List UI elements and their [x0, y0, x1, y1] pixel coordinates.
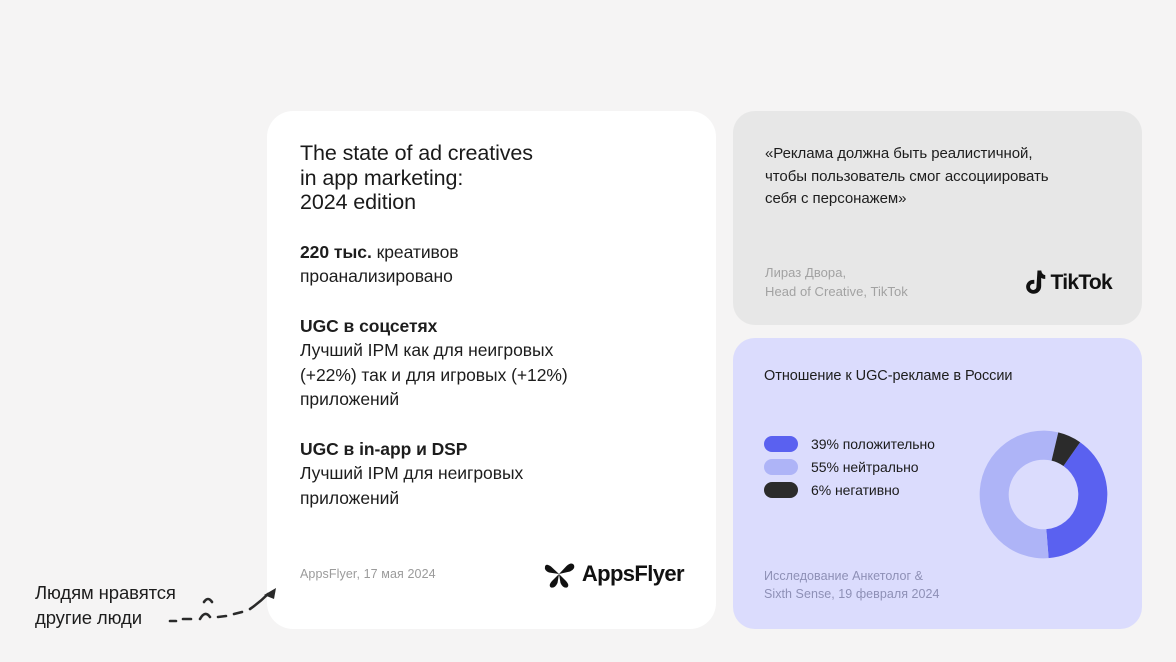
stat-block-creatives: 220 тыс. креативов проанализировано [300, 240, 688, 289]
section-ugc-social: UGC в соцсетях Лучший IPM как для неигро… [300, 314, 688, 412]
legend-label-neutral: 55% нейтрально [811, 459, 919, 475]
legend-swatch-neutral [764, 459, 798, 475]
quote-attribution: Лираз Двора, Head of Creative, TikTok [765, 264, 908, 301]
section-line: Лучший IPM как для неигровых [300, 338, 688, 363]
section-line: Лучший IPM для неигровых [300, 461, 688, 486]
quote-footer: Лираз Двора, Head of Creative, TikTok Ti… [765, 264, 1112, 301]
main-card-content: The state of ad creatives in app marketi… [300, 141, 688, 510]
legend-swatch-negative [764, 482, 798, 498]
legend-label-positive: 39% положительно [811, 436, 935, 452]
appsflyer-mark-icon [544, 559, 576, 589]
section-line: приложений [300, 486, 688, 511]
legend-item: 6% негативно [764, 482, 935, 498]
stat-line-1: 220 тыс. креативов [300, 240, 688, 265]
ugc-sentiment-chart-card: Отношение к UGC-рекламе в России 39% пол… [733, 338, 1142, 629]
section-title-ugc-social: UGC в соцсетях [300, 314, 688, 339]
slide-canvas: The state of ad creatives in app marketi… [0, 0, 1176, 662]
section-line: (+22%) так и для игровых (+12%) [300, 363, 688, 388]
legend-item: 39% положительно [764, 436, 935, 452]
section-ugc-inapp-dsp: UGC в in-app и DSP Лучший IPM для неигро… [300, 437, 688, 511]
tiktok-note-icon [1023, 270, 1046, 296]
page-title: The state of ad creatives in app marketi… [300, 141, 688, 215]
donut-slice-нейтрально [980, 431, 1059, 559]
chart-legend: 39% положительно 55% нейтрально 6% негат… [764, 436, 935, 498]
tiktok-logo: TikTok [1023, 270, 1112, 296]
donut-chart [977, 428, 1110, 561]
stat-line-2: проанализировано [300, 264, 688, 289]
section-line: приложений [300, 387, 688, 412]
chart-title: Отношение к UGC-рекламе в России [764, 368, 1012, 384]
stat-value: 220 тыс. [300, 242, 372, 262]
section-title-ugc-inapp-dsp: UGC в in-app и DSP [300, 437, 688, 462]
appsflyer-logo: AppsFlyer [544, 559, 684, 589]
legend-item: 55% нейтрально [764, 459, 935, 475]
source-note: AppsFlyer, 17 мая 2024 [300, 567, 436, 581]
donut-chart-svg [977, 428, 1110, 561]
tiktok-quote-card: «Реклама должна быть реалистичной, чтобы… [733, 111, 1142, 325]
stat-unit: креативов [372, 242, 459, 262]
quote-text: «Реклама должна быть реалистичной, чтобы… [765, 143, 1116, 211]
dashed-curved-arrow-icon [168, 583, 286, 629]
legend-label-negative: 6% негативно [811, 482, 900, 498]
annotation-text: Людям нравятся другие люди [35, 580, 176, 630]
legend-swatch-positive [764, 436, 798, 452]
main-report-card: The state of ad creatives in app marketi… [267, 111, 716, 629]
appsflyer-wordmark: AppsFlyer [582, 561, 684, 587]
tiktok-wordmark: TikTok [1050, 271, 1112, 295]
main-card-footer: AppsFlyer, 17 мая 2024 AppsFlyer [300, 559, 684, 589]
chart-source-note: Исследование Анкетолог & Sixth Sense, 19… [764, 568, 940, 603]
